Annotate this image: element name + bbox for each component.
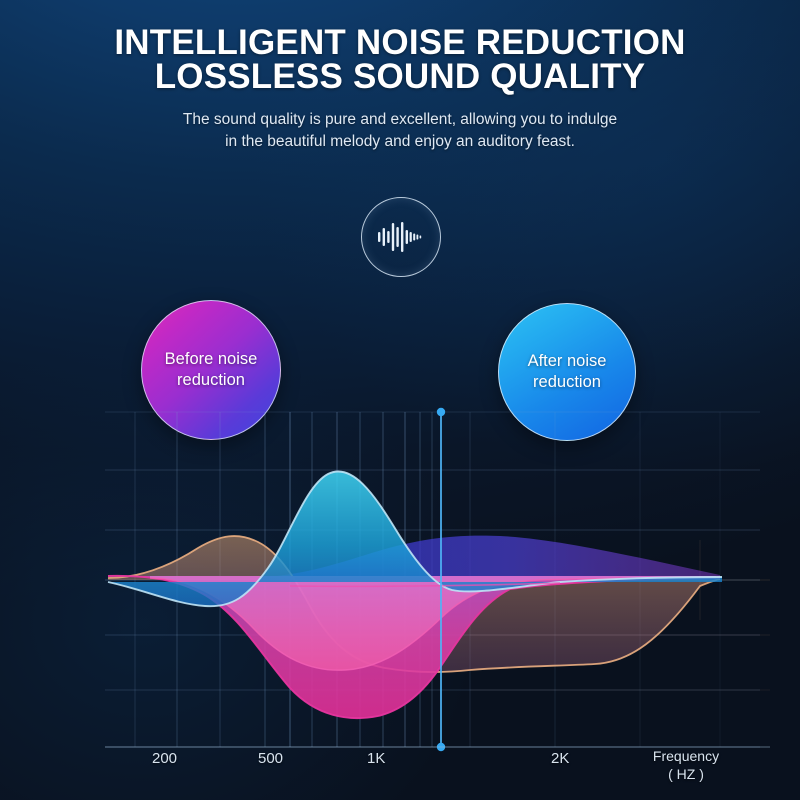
axis-label-frequency-name: Frequency xyxy=(646,747,726,765)
poster-canvas: INTELLIGENT NOISE REDUCTION LOSSLESS SOU… xyxy=(0,0,800,800)
sound-wave-badge xyxy=(361,197,441,277)
bubble-after-line-1: After noise xyxy=(528,352,607,370)
axis-tick-200: 200 xyxy=(152,750,177,767)
axis-tick-2k: 2K xyxy=(551,750,569,767)
bubble-after-label: After noise reduction xyxy=(516,351,619,393)
title-line-1: INTELLIGENT NOISE REDUCTION xyxy=(0,26,800,60)
bubble-before-label: Before noise reduction xyxy=(153,349,270,391)
page-subtitle: The sound quality is pure and excellent,… xyxy=(120,109,680,153)
subtitle-line-1: The sound quality is pure and excellent,… xyxy=(120,109,680,131)
marker-dot-top xyxy=(437,408,445,416)
sound-wave-icon xyxy=(378,222,424,252)
bubble-after-line-2: reduction xyxy=(533,373,601,391)
axis-tick-1k: 1K xyxy=(367,750,385,767)
axis-label-frequency-unit: ( HZ ) xyxy=(646,765,726,783)
axis-label-frequency: Frequency ( HZ ) xyxy=(646,747,726,783)
title-line-2: LOSSLESS SOUND QUALITY xyxy=(0,60,800,94)
bubble-before-line-2: reduction xyxy=(177,371,245,389)
axis-tick-500: 500 xyxy=(258,750,283,767)
page-title: INTELLIGENT NOISE REDUCTION LOSSLESS SOU… xyxy=(0,0,800,94)
header: INTELLIGENT NOISE REDUCTION LOSSLESS SOU… xyxy=(0,0,800,153)
bubble-before-line-1: Before noise xyxy=(165,350,258,368)
subtitle-line-2: in the beautiful melody and enjoy an aud… xyxy=(120,131,680,153)
frequency-response-chart xyxy=(0,390,800,800)
